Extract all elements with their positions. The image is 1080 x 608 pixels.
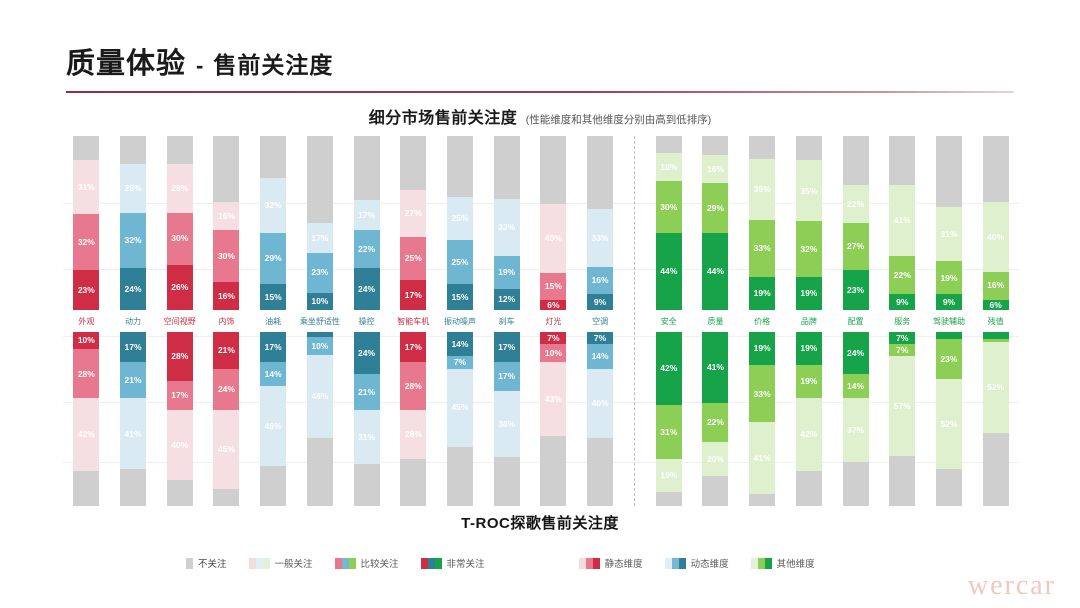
bar-segment bbox=[702, 476, 728, 506]
bar-segment bbox=[73, 471, 99, 506]
bar-segment: 42% bbox=[73, 398, 99, 471]
bar-segment bbox=[983, 433, 1009, 506]
legend-label: 比较关注 bbox=[361, 556, 399, 570]
bar-segment: 42% bbox=[796, 398, 822, 471]
bar-segment: 28% bbox=[400, 362, 426, 411]
bar-segment: 24% bbox=[843, 332, 869, 374]
bar-lower: 10%28%42% bbox=[73, 332, 99, 506]
bar-lower: 17%28%28% bbox=[400, 332, 426, 506]
bar-segment: 7% bbox=[540, 332, 566, 344]
bar-lower: 7%10%43% bbox=[540, 332, 566, 506]
bar-segment: 41% bbox=[749, 422, 775, 493]
category-label: 刹车 bbox=[499, 310, 515, 332]
bar-segment: 19% bbox=[749, 277, 775, 310]
bar-segment: 24% bbox=[354, 332, 380, 374]
bar-segment bbox=[167, 480, 193, 506]
bar-segment: 24% bbox=[120, 268, 146, 310]
bar-segment bbox=[587, 438, 613, 506]
bar-segment bbox=[354, 464, 380, 506]
bar-segment bbox=[587, 136, 613, 209]
bar-upper: 28%30%26% bbox=[167, 136, 193, 310]
category-label: 内饰 bbox=[218, 310, 234, 332]
bar-segment: 29% bbox=[702, 183, 728, 233]
bar-column[interactable]: 17%23%10%乘坐舒适性10%48% bbox=[297, 136, 344, 506]
slide: 质量体验 - 售前关注度 细分市场售前关注度 (性能维度和其他维度分别由高到低排… bbox=[0, 0, 1080, 608]
bar-segment: 45% bbox=[213, 410, 239, 488]
bar-lower: 17%17%38% bbox=[494, 332, 520, 506]
bar-lower: 42%31%19% bbox=[656, 332, 682, 506]
category-label: 振动噪声 bbox=[444, 310, 476, 332]
bar-segment: 26% bbox=[167, 265, 193, 310]
bar-lower: 17%14%46% bbox=[260, 332, 286, 506]
bar-segment bbox=[540, 136, 566, 204]
bar-segment: 14% bbox=[843, 374, 869, 398]
bar-segment: 28% bbox=[400, 410, 426, 459]
bar-segment: 35% bbox=[796, 160, 822, 221]
bar-segment: 28% bbox=[167, 332, 193, 381]
bar-segment: 9% bbox=[587, 294, 613, 310]
bar-segment: 21% bbox=[354, 374, 380, 411]
category-label: 乘坐舒适性 bbox=[300, 310, 340, 332]
bar-column[interactable]: 16%29%44%质量41%22%20% bbox=[692, 136, 739, 506]
bar-upper: 28%32%24% bbox=[120, 136, 146, 310]
bar-segment bbox=[983, 136, 1009, 202]
bar-segment: 12% bbox=[494, 289, 520, 310]
bar-column[interactable]: 33%16%9%空调7%14%40% bbox=[577, 136, 624, 506]
bar-segment: 33% bbox=[587, 209, 613, 266]
bar-group-performance: 31%32%23%外观10%28%42%28%32%24%动力17%21%41%… bbox=[63, 136, 623, 506]
bar-segment: 16% bbox=[213, 202, 239, 230]
bar-column[interactable]: 41%22%9%服务7%7%57% bbox=[879, 136, 926, 506]
legend-swatch-icon bbox=[665, 558, 686, 569]
bar-segment bbox=[307, 136, 333, 223]
bar-segment: 33% bbox=[494, 199, 520, 256]
bar-segment: 42% bbox=[656, 332, 682, 405]
category-label: 质量 bbox=[707, 310, 723, 332]
bar-column[interactable]: 16%30%16%内饰21%24%45% bbox=[203, 136, 250, 506]
bar-column[interactable]: 22%27%23%配置24%14%37% bbox=[832, 136, 879, 506]
chart-title-main: 细分市场售前关注度 bbox=[369, 110, 518, 127]
bar-segment bbox=[260, 466, 286, 506]
bar-segment: 35% bbox=[749, 159, 775, 220]
bar-segment: 30% bbox=[167, 213, 193, 265]
category-label: 安全 bbox=[661, 310, 677, 332]
bar-segment: 14% bbox=[587, 344, 613, 368]
bar-group-other: 16%30%44%安全42%31%19%16%29%44%质量41%22%20%… bbox=[645, 136, 1019, 506]
bar-segment: 48% bbox=[307, 355, 333, 439]
bar-upper: 33%16%9% bbox=[587, 136, 613, 310]
bar-segment bbox=[307, 438, 333, 506]
bar-segment: 38% bbox=[494, 391, 520, 457]
bar-segment bbox=[213, 136, 239, 202]
bar-segment: 10% bbox=[307, 293, 333, 310]
bar-segment bbox=[494, 136, 520, 199]
category-label: 动力 bbox=[125, 310, 141, 332]
bar-segment: 17% bbox=[494, 362, 520, 392]
bar-upper: 40%16%6% bbox=[983, 136, 1009, 310]
bar-segment: 14% bbox=[260, 362, 286, 386]
bar-segment: 32% bbox=[120, 213, 146, 269]
bar-segment: 17% bbox=[167, 381, 193, 411]
bar-lower: 19%33%41% bbox=[749, 332, 775, 506]
bar-segment: 9% bbox=[889, 294, 915, 310]
legend-item[interactable]: 不关注 bbox=[186, 556, 227, 570]
bar-segment bbox=[400, 459, 426, 506]
bar-segment bbox=[749, 494, 775, 506]
axis-title: T-ROC探歌售前关注度 bbox=[0, 512, 1080, 533]
bar-upper: 17%22%24% bbox=[354, 136, 380, 310]
bar-segment: 14% bbox=[447, 332, 473, 356]
category-label: 配置 bbox=[848, 310, 864, 332]
bar-segment: 10% bbox=[307, 337, 333, 354]
bar-upper: 40%15%6% bbox=[540, 136, 566, 310]
bar-segment: 44% bbox=[656, 233, 682, 310]
bar-segment: 17% bbox=[400, 332, 426, 362]
bar-segment: 10% bbox=[73, 332, 99, 349]
bar-upper: 41%22%9% bbox=[889, 136, 915, 310]
bar-column[interactable]: 31%19%9%驾驶辅助23%52% bbox=[926, 136, 973, 506]
bar-segment bbox=[447, 447, 473, 506]
bar-column[interactable]: 28%32%24%动力17%21%41% bbox=[110, 136, 157, 506]
bar-segment: 33% bbox=[749, 365, 775, 422]
bar-segment: 45% bbox=[447, 369, 473, 447]
bar-segment: 17% bbox=[120, 332, 146, 362]
bar-segment: 21% bbox=[213, 332, 239, 369]
bar-lower: 17%21%41% bbox=[120, 332, 146, 506]
bar-segment: 44% bbox=[702, 233, 728, 310]
bar-segment: 22% bbox=[702, 403, 728, 441]
bar-segment bbox=[656, 492, 682, 506]
legend-group: 不关注一般关注比较关注非常关注 bbox=[186, 556, 507, 570]
bar-segment: 9% bbox=[936, 294, 962, 310]
bar-segment: 17% bbox=[400, 280, 426, 310]
bar-segment: 10% bbox=[540, 344, 566, 361]
bar-lower: 52% bbox=[983, 332, 1009, 506]
bar-segment bbox=[167, 136, 193, 164]
bar-segment: 7% bbox=[447, 356, 473, 368]
bar-segment bbox=[936, 469, 962, 506]
bar-column[interactable]: 35%32%19%品牌19%19%42% bbox=[786, 136, 833, 506]
bar-column[interactable]: 32%29%15%油耗17%14%46% bbox=[250, 136, 297, 506]
bar-segment: 19% bbox=[796, 365, 822, 398]
category-label: 灯光 bbox=[545, 310, 561, 332]
bar-column[interactable]: 16%30%44%安全42%31%19% bbox=[645, 136, 692, 506]
chart-legend: 不关注一般关注比较关注非常关注静态维度动态维度其他维度 bbox=[0, 556, 1080, 570]
chart-title: 细分市场售前关注度 (性能维度和其他维度分别由高到低排序) bbox=[0, 104, 1080, 128]
bar-segment: 29% bbox=[260, 233, 286, 283]
bar-upper: 31%32%23% bbox=[73, 136, 99, 310]
bar-upper: 32%29%15% bbox=[260, 136, 286, 310]
bar-segment: 16% bbox=[656, 153, 682, 181]
legend-item[interactable]: 其他维度 bbox=[751, 556, 815, 570]
bar-segment: 41% bbox=[702, 332, 728, 403]
bar-segment: 25% bbox=[400, 237, 426, 281]
title-row: 质量体验 - 售前关注度 bbox=[66, 40, 1014, 82]
bar-segment: 17% bbox=[307, 223, 333, 253]
bar-segment: 16% bbox=[983, 272, 1009, 300]
category-label: 服务 bbox=[894, 310, 910, 332]
legend-label: 一般关注 bbox=[275, 556, 313, 570]
bar-segment bbox=[260, 136, 286, 178]
bar-segment: 7% bbox=[889, 344, 915, 356]
bar-segment bbox=[936, 136, 962, 207]
page-title: 质量体验 bbox=[66, 40, 186, 82]
bar-upper: 22%27%23% bbox=[843, 136, 869, 310]
bar-column[interactable]: 25%25%15%振动噪声14%7%45% bbox=[437, 136, 484, 506]
bar-segment bbox=[540, 436, 566, 506]
bar-segment bbox=[796, 471, 822, 506]
bar-segment: 6% bbox=[983, 300, 1009, 310]
page-subtitle: 售前关注度 bbox=[213, 46, 333, 80]
bar-segment: 27% bbox=[843, 223, 869, 270]
bar-segment bbox=[447, 136, 473, 197]
bar-segment: 43% bbox=[540, 362, 566, 437]
bar-segment: 22% bbox=[889, 256, 915, 294]
bar-segment: 15% bbox=[540, 273, 566, 299]
bar-segment: 40% bbox=[587, 369, 613, 439]
legend-item[interactable]: 动态维度 bbox=[665, 556, 729, 570]
bar-upper: 33%19%12% bbox=[494, 136, 520, 310]
bar-lower: 41%22%20% bbox=[702, 332, 728, 506]
bar-segment: 30% bbox=[656, 181, 682, 233]
bar-segment bbox=[936, 332, 962, 339]
chart-plot-area: 31%32%23%外观10%28%42%28%32%24%动力17%21%41%… bbox=[63, 136, 1019, 506]
bar-segment: 31% bbox=[936, 207, 962, 261]
bar-upper: 16%30%44% bbox=[656, 136, 682, 310]
bar-segment bbox=[213, 489, 239, 506]
bar-lower: 21%24%45% bbox=[213, 332, 239, 506]
chart-title-note: (性能维度和其他维度分别由高到低排序) bbox=[526, 114, 712, 126]
bar-column[interactable]: 27%25%17%智能车机17%28%28% bbox=[390, 136, 437, 506]
category-label: 油耗 bbox=[265, 310, 281, 332]
bar-segment: 19% bbox=[656, 459, 682, 492]
bar-upper: 25%25%15% bbox=[447, 136, 473, 310]
category-label: 价格 bbox=[754, 310, 770, 332]
bar-segment: 23% bbox=[936, 339, 962, 379]
bar-upper: 31%19%9% bbox=[936, 136, 962, 310]
bar-segment bbox=[983, 332, 1009, 339]
category-label: 智能车机 bbox=[397, 310, 429, 332]
bar-segment: 41% bbox=[120, 398, 146, 469]
bar-lower: 7%14%40% bbox=[587, 332, 613, 506]
bar-segment bbox=[749, 136, 775, 159]
bar-segment: 7% bbox=[889, 332, 915, 344]
bar-segment bbox=[120, 469, 146, 506]
bar-segment: 24% bbox=[213, 369, 239, 411]
bar-segment: 19% bbox=[796, 277, 822, 310]
bar-segment: 17% bbox=[260, 332, 286, 362]
bar-segment bbox=[889, 136, 915, 185]
category-label: 操控 bbox=[359, 310, 375, 332]
category-label: 品牌 bbox=[801, 310, 817, 332]
legend-swatch-icon bbox=[751, 558, 772, 569]
bar-segment: 22% bbox=[354, 230, 380, 268]
bar-segment bbox=[73, 136, 99, 160]
title-separator: - bbox=[196, 53, 203, 79]
bar-segment: 17% bbox=[354, 200, 380, 230]
bar-segment: 33% bbox=[749, 220, 775, 277]
bar-segment: 19% bbox=[494, 256, 520, 289]
legend-swatch-icon bbox=[249, 558, 270, 569]
bar-segment bbox=[843, 136, 869, 185]
bar-segment: 25% bbox=[447, 197, 473, 241]
bar-upper: 16%29%44% bbox=[702, 136, 728, 310]
bar-column[interactable]: 35%33%19%价格19%33%41% bbox=[739, 136, 786, 506]
bar-upper: 17%23%10% bbox=[307, 136, 333, 310]
legend-group: 静态维度动态维度其他维度 bbox=[579, 556, 837, 570]
bar-column[interactable]: 31%32%23%外观10%28%42% bbox=[63, 136, 110, 506]
bar-segment: 20% bbox=[702, 442, 728, 477]
bar-segment: 57% bbox=[889, 356, 915, 455]
category-label: 空调 bbox=[592, 310, 608, 332]
bar-segment: 28% bbox=[167, 164, 193, 213]
bar-segment: 28% bbox=[120, 164, 146, 213]
bar-column[interactable]: 28%30%26%空间视野28%17%40% bbox=[156, 136, 203, 506]
bar-segment: 46% bbox=[260, 386, 286, 466]
bar-segment: 52% bbox=[936, 379, 962, 469]
legend-swatch-icon bbox=[579, 558, 600, 569]
bar-segment bbox=[494, 457, 520, 506]
bar-segment: 52% bbox=[983, 342, 1009, 432]
bar-upper: 27%25%17% bbox=[400, 136, 426, 310]
legend-label: 非常关注 bbox=[447, 556, 485, 570]
bar-segment: 23% bbox=[73, 270, 99, 310]
bar-lower: 10%48% bbox=[307, 332, 333, 506]
bar-segment: 40% bbox=[983, 202, 1009, 272]
legend-swatch-icon bbox=[421, 558, 442, 569]
legend-item[interactable]: 比较关注 bbox=[335, 556, 399, 570]
bar-segment: 6% bbox=[540, 300, 566, 310]
category-label: 外观 bbox=[78, 310, 94, 332]
bar-segment: 31% bbox=[656, 405, 682, 459]
bar-segment: 25% bbox=[447, 240, 473, 284]
bar-column[interactable]: 17%22%24%操控24%21%31% bbox=[343, 136, 390, 506]
bar-segment: 22% bbox=[843, 185, 869, 223]
legend-label: 其他维度 bbox=[777, 556, 815, 570]
bar-column[interactable]: 33%19%12%刹车17%17%38% bbox=[483, 136, 530, 506]
bar-segment: 41% bbox=[889, 185, 915, 256]
legend-swatch-icon bbox=[335, 558, 356, 569]
bar-segment: 27% bbox=[400, 190, 426, 237]
legend-label: 不关注 bbox=[198, 556, 227, 570]
bar-segment: 23% bbox=[307, 253, 333, 293]
bar-segment: 19% bbox=[749, 332, 775, 365]
bar-segment: 32% bbox=[260, 178, 286, 234]
bar-segment: 32% bbox=[796, 221, 822, 277]
bar-segment: 40% bbox=[540, 204, 566, 274]
legend-item[interactable]: 静态维度 bbox=[579, 556, 643, 570]
bar-segment: 40% bbox=[167, 410, 193, 480]
bar-segment bbox=[843, 462, 869, 506]
legend-item[interactable]: 一般关注 bbox=[249, 556, 313, 570]
bar-lower: 7%7%57% bbox=[889, 332, 915, 506]
category-label: 驾驶辅助 bbox=[933, 310, 965, 332]
bar-segment bbox=[889, 456, 915, 506]
title-underline-rule bbox=[66, 91, 1014, 93]
bar-segment bbox=[656, 136, 682, 153]
legend-swatch-icon bbox=[186, 558, 193, 569]
bar-lower: 23%52% bbox=[936, 332, 962, 506]
bar-column[interactable]: 40%16%6%残值52% bbox=[972, 136, 1019, 506]
bar-column[interactable]: 40%15%6%灯光7%10%43% bbox=[530, 136, 577, 506]
bar-lower: 14%7%45% bbox=[447, 332, 473, 506]
bar-segment: 15% bbox=[447, 284, 473, 310]
bar-segment: 19% bbox=[796, 332, 822, 365]
bar-lower: 24%14%37% bbox=[843, 332, 869, 506]
bar-lower: 24%21%31% bbox=[354, 332, 380, 506]
bar-segment: 16% bbox=[213, 282, 239, 310]
bar-segment bbox=[400, 136, 426, 190]
legend-label: 动态维度 bbox=[691, 556, 729, 570]
bar-segment: 30% bbox=[213, 230, 239, 282]
bar-segment: 23% bbox=[843, 270, 869, 310]
bar-lower: 19%19%42% bbox=[796, 332, 822, 506]
bar-segment: 17% bbox=[494, 332, 520, 362]
bar-segment: 16% bbox=[587, 267, 613, 295]
bar-lower: 28%17%40% bbox=[167, 332, 193, 506]
bar-segment: 24% bbox=[354, 268, 380, 310]
bar-segment: 32% bbox=[73, 214, 99, 270]
bar-segment: 31% bbox=[354, 410, 380, 464]
legend-label: 静态维度 bbox=[605, 556, 643, 570]
bar-segment: 19% bbox=[936, 261, 962, 294]
bar-upper: 35%32%19% bbox=[796, 136, 822, 310]
bar-segment: 16% bbox=[702, 155, 728, 183]
bar-columns: 31%32%23%外观10%28%42%28%32%24%动力17%21%41%… bbox=[63, 136, 1019, 506]
legend-item[interactable]: 非常关注 bbox=[421, 556, 485, 570]
bar-upper: 35%33%19% bbox=[749, 136, 775, 310]
bar-segment bbox=[702, 136, 728, 155]
slide-header: 质量体验 - 售前关注度 bbox=[66, 40, 1014, 93]
bar-segment: 15% bbox=[260, 284, 286, 310]
bar-segment bbox=[796, 136, 822, 160]
category-label: 残值 bbox=[988, 310, 1004, 332]
watermark: wercar bbox=[968, 570, 1056, 602]
bar-segment: 21% bbox=[120, 362, 146, 399]
bar-segment bbox=[354, 136, 380, 200]
bar-segment bbox=[120, 136, 146, 164]
bar-segment: 31% bbox=[73, 160, 99, 214]
category-label: 空间视野 bbox=[164, 310, 196, 332]
bar-segment: 37% bbox=[843, 398, 869, 462]
bar-segment: 7% bbox=[587, 332, 613, 344]
bar-upper: 16%30%16% bbox=[213, 136, 239, 310]
bar-segment: 28% bbox=[73, 349, 99, 398]
